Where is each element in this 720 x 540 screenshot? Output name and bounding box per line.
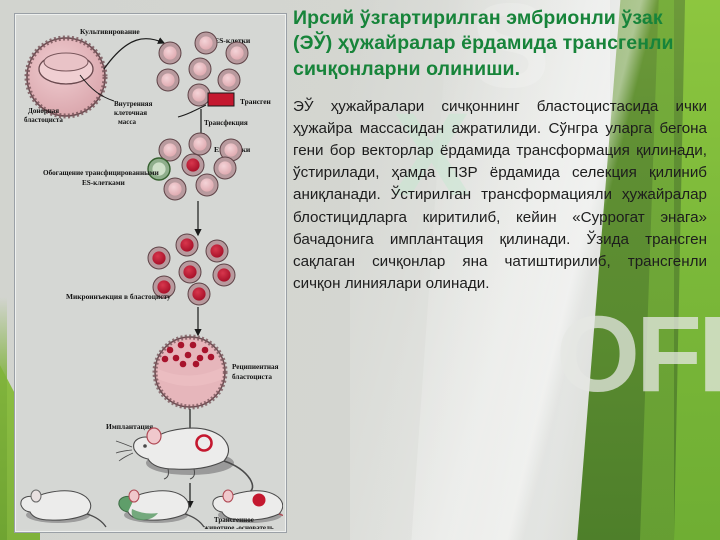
label-transgenic-animal: Трансгенное	[214, 516, 254, 524]
watermark-off: OFF	[556, 300, 720, 408]
donor-blastocyst-illustration	[27, 38, 105, 116]
label-transfection: Трансфекция	[204, 119, 248, 127]
svg-text:бластоциста: бластоциста	[24, 116, 63, 124]
diagram-image: Культивирование ES-клетки Донорная бласт…	[18, 17, 283, 529]
label-inner-cell-mass: Внутренняя	[114, 100, 153, 108]
label-cultivation: Культивирование	[80, 27, 140, 36]
recipient-blastocyst-illustration	[155, 333, 225, 407]
transgenic-mouse-workflow-diagram: Культивирование ES-клетки Донорная бласт…	[18, 17, 283, 529]
green-edge-left	[0, 0, 7, 540]
label-recipient-blastocyst: Реципиентная	[232, 363, 279, 371]
svg-text:ES-клетками: ES-клетками	[82, 179, 125, 187]
diagram-image-frame: Культивирование ES-клетки Донорная бласт…	[14, 13, 287, 533]
label-implantation: Имплантация	[106, 422, 153, 431]
body-paragraph-text: ЭЎ ҳужайралари сичқоннинг бластоцистасид…	[293, 96, 707, 295]
svg-text:клеточная: клеточная	[114, 109, 147, 117]
label-microinjection: Микроинъекция в бластоцисту	[66, 292, 171, 301]
label-enrichment: Обогащение трансфицированными	[43, 169, 159, 177]
svg-text:бластоциста: бластоциста	[232, 373, 272, 381]
svg-text:животное -основатель: животное -основатель	[204, 524, 274, 529]
slide-canvas: S X OFF X	[0, 0, 720, 540]
label-transgene: Трансген	[240, 97, 272, 106]
page-title: Ирсий ўзгартирилган эмбрионли ўзак (ЭЎ) …	[293, 6, 707, 82]
text-column: Ирсий ўзгартирилган эмбрионли ўзак (ЭЎ) …	[293, 6, 707, 295]
body-paragraph: ЭЎ ҳужайралари сичқоннинг бластоцистасид…	[293, 96, 707, 295]
svg-text:масса: масса	[118, 118, 137, 126]
label-donor-blastocyst: Донорная	[28, 107, 59, 115]
